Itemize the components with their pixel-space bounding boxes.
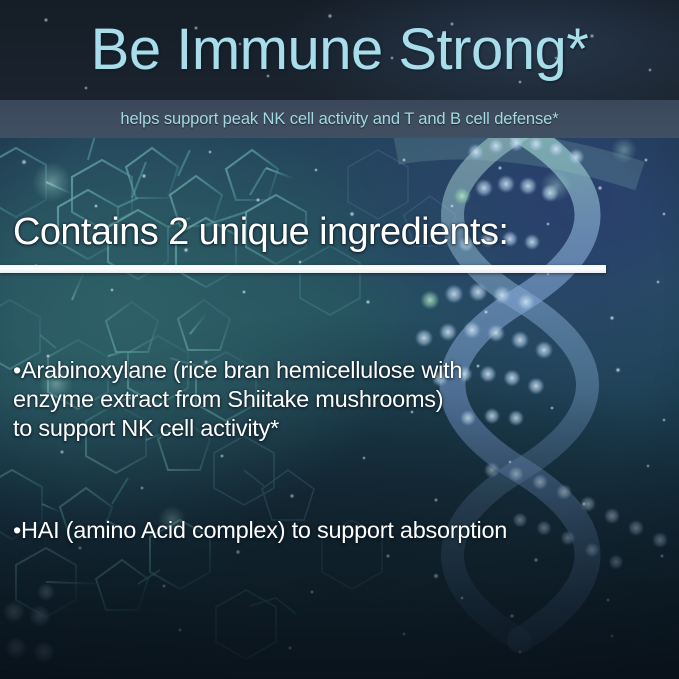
bullet-1-line-3: to support NK cell activity* xyxy=(13,414,462,443)
ingredient-bullet-1: •Arabinoxylane (rice bran hemicellulose … xyxy=(13,356,462,443)
subtitle-text: helps support peak NK cell activity and … xyxy=(120,111,558,128)
section-heading: Contains 2 unique ingredients: xyxy=(13,213,508,251)
heading-underline-rule xyxy=(0,265,606,273)
main-content: Contains 2 unique ingredients: •Arabinox… xyxy=(0,138,679,679)
bullet-1-line-2: enzyme extract from Shiitake mushrooms) xyxy=(13,385,462,414)
page-title: Be Immune Strong* xyxy=(0,0,679,100)
promotional-poster: Be Immune Strong* helps support peak NK … xyxy=(0,0,679,679)
header-banner: Be Immune Strong* xyxy=(0,0,679,100)
ingredient-bullet-2: •HAI (amino Acid complex) to support abs… xyxy=(13,516,507,545)
bullet-1-line-1: •Arabinoxylane (rice bran hemicellulose … xyxy=(13,356,462,385)
bullet-2-line-1: •HAI (amino Acid complex) to support abs… xyxy=(13,516,507,545)
subtitle-banner: helps support peak NK cell activity and … xyxy=(0,100,679,138)
